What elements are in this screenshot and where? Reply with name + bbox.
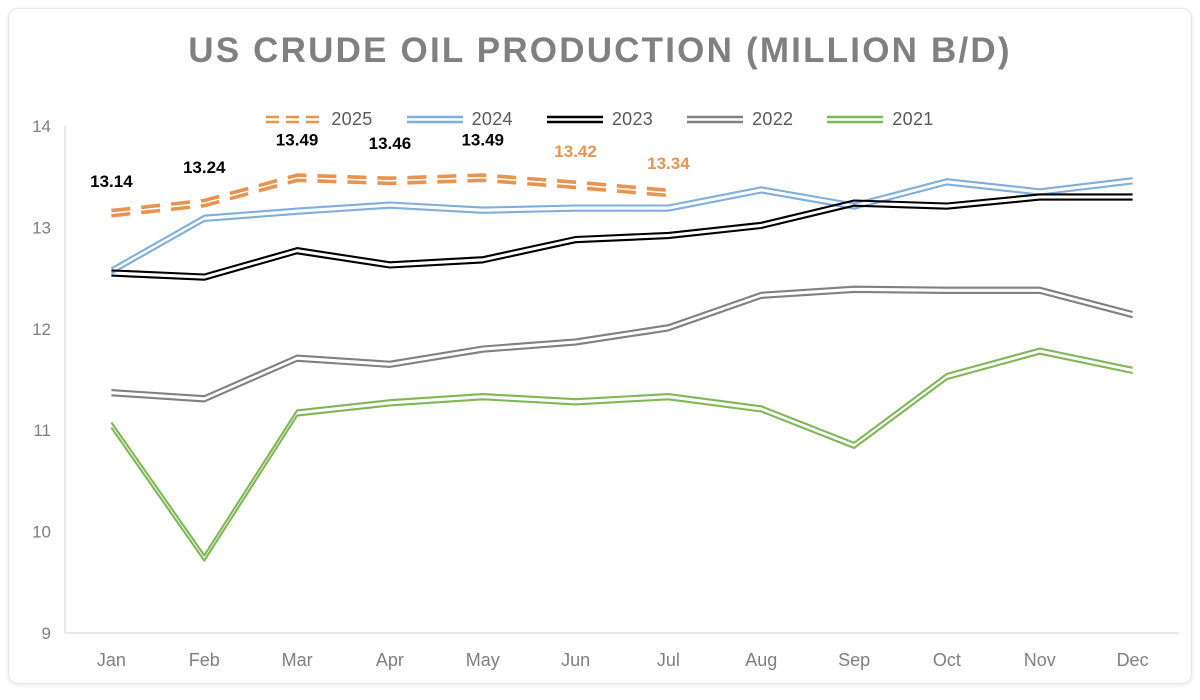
x-axis-tick-Oct: Oct <box>933 650 961 670</box>
x-axis-tick-Nov: Nov <box>1024 650 1056 670</box>
data-label-Mar: 13.49 <box>276 131 319 150</box>
x-axis-tick-Sep: Sep <box>838 650 870 670</box>
y-axis-tick-11: 11 <box>33 421 51 440</box>
data-label-Jan: 13.14 <box>90 172 133 191</box>
series-2023[interactable] <box>111 194 1132 279</box>
y-axis-tick-12: 12 <box>32 320 51 339</box>
x-axis-tick-Jan: Jan <box>97 650 126 670</box>
y-axis-tick-10: 10 <box>32 523 51 542</box>
data-label-Jul: 13.34 <box>647 154 690 173</box>
series-2021[interactable] <box>111 349 1132 561</box>
series-line-2022-lower <box>111 292 1132 402</box>
line-chart-plot: 14131211109JanFebMarAprMayJunJulAugSepOc… <box>9 9 1192 684</box>
y-axis-tick-9: 9 <box>42 624 51 643</box>
x-axis-tick-Dec: Dec <box>1117 650 1149 670</box>
series-line-2021-lower <box>111 354 1132 561</box>
chart-card: US CRUDE OIL PRODUCTION (MILLION B/D) 20… <box>8 8 1192 684</box>
series-line-2021-upper <box>111 349 1132 556</box>
x-axis-tick-Apr: Apr <box>376 650 404 670</box>
x-axis-tick-Feb: Feb <box>189 650 220 670</box>
data-label-Jun: 13.42 <box>554 142 597 161</box>
x-axis-tick-Aug: Aug <box>745 650 777 670</box>
x-axis-tick-May: May <box>466 650 500 670</box>
series-line-2022-upper <box>111 287 1132 397</box>
data-label-Apr: 13.46 <box>369 134 412 153</box>
series-layer <box>111 175 1132 560</box>
data-label-Feb: 13.24 <box>183 158 226 177</box>
series-2022[interactable] <box>111 287 1132 402</box>
x-axis-tick-Jul: Jul <box>657 650 680 670</box>
y-axis-tick-14: 14 <box>32 117 51 136</box>
x-axis-tick-Jun: Jun <box>561 650 590 670</box>
data-label-May: 13.49 <box>461 131 504 150</box>
x-axis-tick-Mar: Mar <box>282 650 313 670</box>
series-line-2024-lower <box>111 183 1132 273</box>
y-axis-tick-13: 13 <box>32 218 51 237</box>
